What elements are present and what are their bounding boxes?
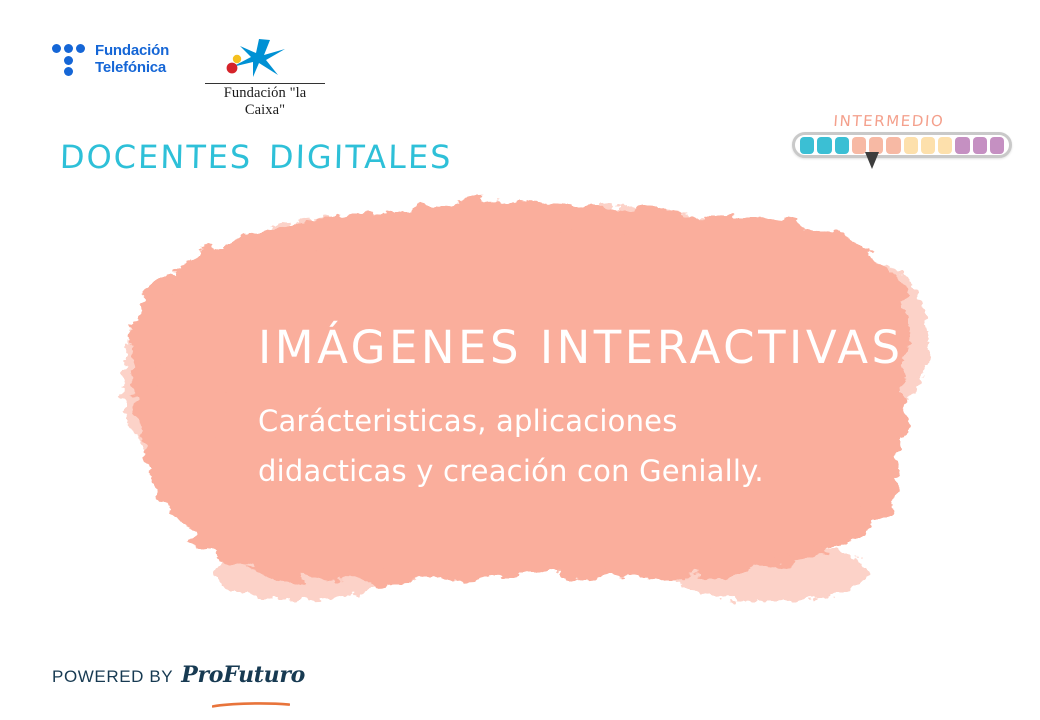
powered-by-label: POWERED BY xyxy=(52,667,173,687)
level-pointer-icon xyxy=(865,152,879,169)
profuturo-underline-swoosh-icon xyxy=(212,688,290,693)
slide-subtitle-line1: Carácteristicas, aplicaciones xyxy=(258,404,678,438)
level-segment-8 xyxy=(921,137,935,154)
level-label: INTERMEDIO xyxy=(765,112,1012,130)
telefonica-dots-logo-icon xyxy=(52,42,86,76)
level-meter: INTERMEDIO xyxy=(792,112,1012,158)
level-segment-6 xyxy=(886,137,900,154)
level-segment-4 xyxy=(852,137,866,154)
profuturo-wordmark: ProFuturo xyxy=(181,662,305,688)
telefonica-wordmark-line1: Fundación xyxy=(95,42,169,59)
fundacion-la-caixa-logo: Fundación "la Caixa" xyxy=(205,38,325,119)
level-segment-10 xyxy=(955,137,969,154)
level-track[interactable] xyxy=(792,132,1012,158)
caixa-wordmark: Fundación "la Caixa" xyxy=(205,83,325,119)
level-segment-7 xyxy=(904,137,918,154)
level-segment-11 xyxy=(973,137,987,154)
telefonica-wordmark-line2: Telefónica xyxy=(95,59,166,76)
program-title: Docentes Digitales xyxy=(59,126,453,178)
partner-logo-bar: Fundación Telefónica Fundación "la Caixa… xyxy=(52,38,325,94)
telefonica-wordmark: Fundación Telefónica xyxy=(95,42,169,76)
footer: POWERED BY ProFuturo xyxy=(52,662,305,688)
profuturo-wordmark-text: ProFuturo xyxy=(181,662,305,688)
caixa-star-logo-icon xyxy=(205,65,325,82)
slide-subtitle-line2: didacticas y creación con Genially. xyxy=(258,454,764,488)
fundacion-telefonica-logo: Fundación Telefónica xyxy=(52,42,169,76)
slide-title: IMÁGENES INTERACTIVAS xyxy=(258,322,918,374)
slide-copy: IMÁGENES INTERACTIVAS Carácteristicas, a… xyxy=(258,322,918,496)
level-segment-2 xyxy=(817,137,831,154)
level-segment-9 xyxy=(938,137,952,154)
level-segment-3 xyxy=(835,137,849,154)
level-segment-12 xyxy=(990,137,1004,154)
level-segment-5 xyxy=(869,137,883,154)
level-segment-1 xyxy=(800,137,814,154)
slide-subtitle: Carácteristicas, aplicaciones didacticas… xyxy=(258,396,878,496)
